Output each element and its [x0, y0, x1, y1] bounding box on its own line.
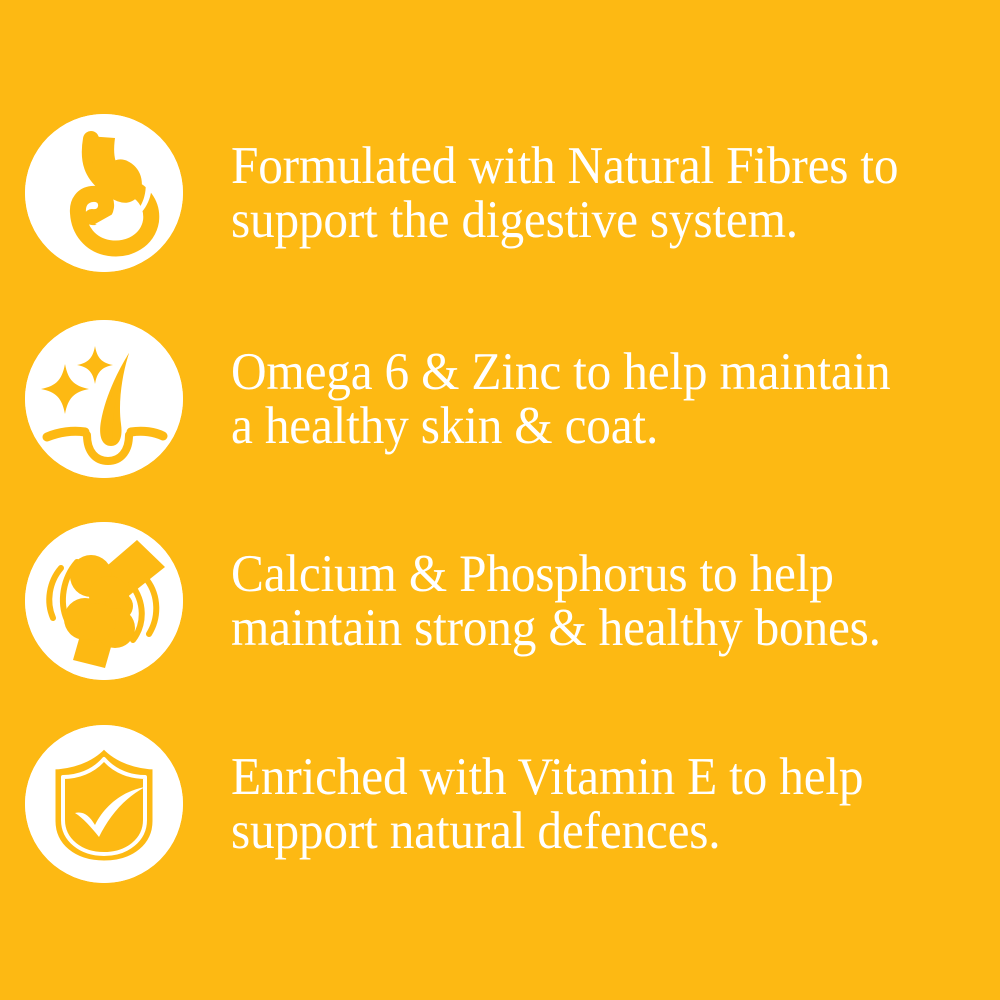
- shield-check-defence-icon: [25, 725, 183, 883]
- hair-follicle-skin-coat-icon: [25, 320, 183, 478]
- feature-text: Omega 6 & Zinc to help maintain a health…: [231, 345, 946, 453]
- stomach-digestion-icon: [25, 114, 183, 272]
- feature-text: Enriched with Vitamin E to help support …: [231, 750, 946, 858]
- feature-row: Omega 6 & Zinc to help maintain a health…: [0, 320, 1000, 478]
- feature-row: Enriched with Vitamin E to help support …: [0, 725, 1000, 883]
- feature-text: Calcium & Phosphorus to help maintain st…: [231, 547, 946, 655]
- bone-joint-icon: [25, 522, 183, 680]
- feature-row: Calcium & Phosphorus to help maintain st…: [0, 522, 1000, 680]
- benefits-panel: Formulated with Natural Fibres to suppor…: [0, 0, 1000, 1000]
- feature-text: Formulated with Natural Fibres to suppor…: [231, 139, 946, 247]
- feature-row: Formulated with Natural Fibres to suppor…: [0, 114, 1000, 272]
